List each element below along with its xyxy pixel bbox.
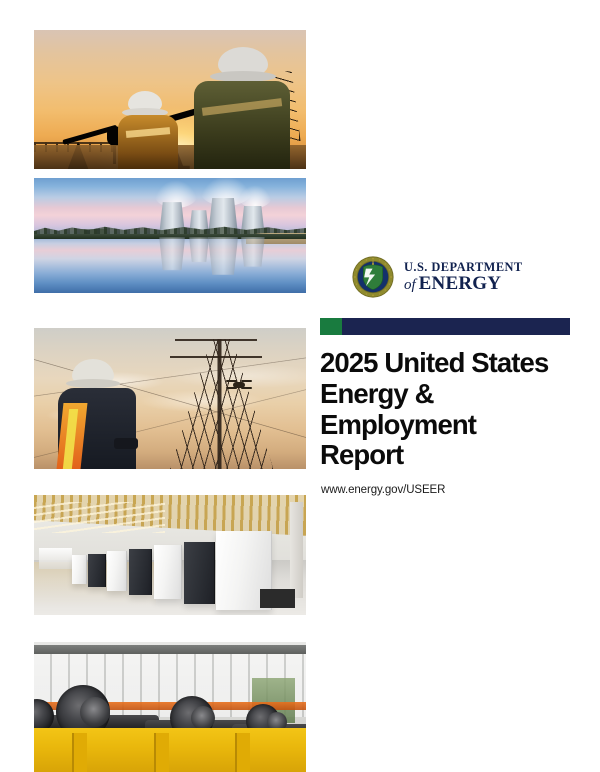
rack-leg-2 xyxy=(154,733,169,772)
photo-axle-assembly-line xyxy=(34,642,306,772)
rack-leg-1 xyxy=(72,733,87,772)
photo-oil-pumpjacks xyxy=(34,30,306,169)
hall-pillar xyxy=(290,502,304,598)
utility-lineworker xyxy=(58,359,140,469)
photo-transmission-art xyxy=(34,328,306,469)
tower-crossarm-lower xyxy=(170,356,262,358)
tower-crossarm-upper xyxy=(175,339,257,341)
server-rack-6 xyxy=(184,542,215,604)
cooling-tower-reflection-3 xyxy=(208,237,238,275)
photo-assembly-art xyxy=(34,642,306,772)
doe-wordmark: U.S. DEPARTMENT ofENERGY xyxy=(404,261,523,294)
photo-data-center-aisle xyxy=(34,495,306,615)
photo-transmission-lineworker-drone xyxy=(34,328,306,469)
accent-bar xyxy=(320,318,570,335)
server-rack-1 xyxy=(72,555,87,584)
cover-photo-column xyxy=(34,30,306,742)
cooling-tower-reflection-4 xyxy=(241,237,265,267)
accent-bar-green xyxy=(320,318,342,335)
steam-plume-3 xyxy=(238,185,272,208)
photo-oil-pumpjacks-art xyxy=(34,30,306,169)
cooling-tower-reflection-1 xyxy=(159,237,185,270)
doe-seal-icon xyxy=(352,256,394,298)
server-rack-4 xyxy=(129,549,152,595)
ceiling-lights xyxy=(34,502,165,533)
report-cover-page: U.S. DEPARTMENT ofENERGY 2025 United Sta… xyxy=(0,0,600,772)
photo-nuclear-cooling-towers xyxy=(34,178,306,293)
doe-wordmark-of: of xyxy=(404,277,419,293)
doe-wordmark-line2: ofENERGY xyxy=(404,274,523,294)
server-rack-5 xyxy=(154,545,182,599)
page-title: 2025 United States Energy & Employment R… xyxy=(320,348,560,471)
server-rack-2 xyxy=(88,554,105,588)
photo-nuclear-art xyxy=(34,178,306,293)
doe-logo-lockup: U.S. DEPARTMENT ofENERGY xyxy=(352,256,523,298)
rack-leg-3 xyxy=(235,733,250,772)
drone-icon xyxy=(226,379,252,390)
doe-wordmark-energy: ENERGY xyxy=(419,273,502,294)
overhead-beam xyxy=(34,645,306,654)
server-rack-3 xyxy=(107,551,127,591)
floor-crate xyxy=(260,589,295,608)
photo-data-center-art xyxy=(34,495,306,615)
aisle-vanishing-point xyxy=(39,548,72,570)
oil-worker-background xyxy=(116,91,180,169)
report-url: www.energy.gov/USEER xyxy=(321,484,445,496)
accent-bar-navy xyxy=(342,318,570,335)
oil-worker-foreground xyxy=(194,47,290,169)
cooling-tower-reflection-2 xyxy=(189,237,209,262)
